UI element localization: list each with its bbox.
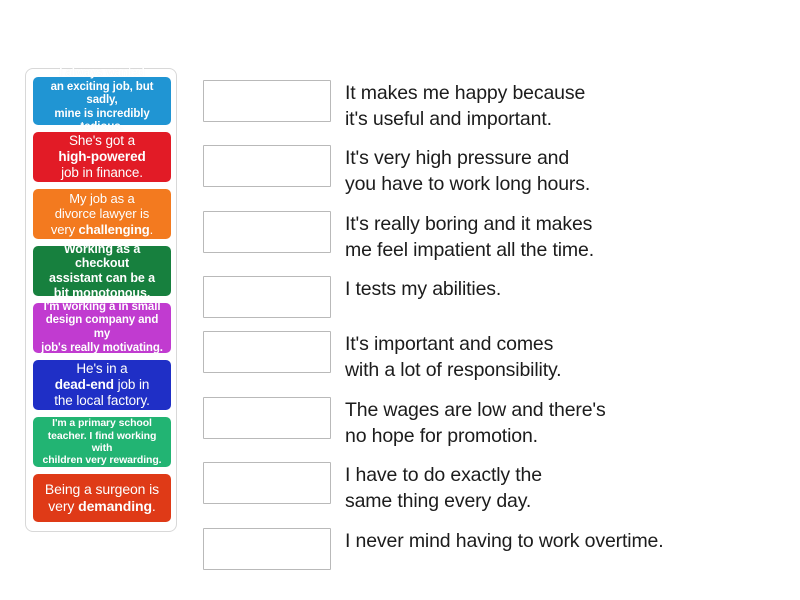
tile-challenging[interactable]: My job as adivorce lawyer isvery challen… (33, 189, 171, 239)
tile-dead-end[interactable]: He's in adead-end job inthe local factor… (33, 360, 171, 410)
match-row: It's very high pressure andyou have to w… (203, 145, 778, 197)
drop-zone[interactable] (203, 397, 331, 439)
tile-demanding[interactable]: Being a surgeon isvery demanding. (33, 474, 171, 522)
tile-high-powered[interactable]: She's got ahigh-poweredjob in finance. (33, 132, 171, 182)
drop-zone[interactable] (203, 331, 331, 373)
prompt-text: I tests my abilities. (345, 276, 501, 303)
match-rows-list: It makes me happy becauseit's useful and… (203, 80, 778, 583)
drop-zone[interactable] (203, 528, 331, 570)
tile-text: Being a surgeon isvery demanding. (45, 481, 159, 514)
tile-tedious[interactable]: I always wantedan exciting job, but sadl… (33, 77, 171, 125)
prompt-text: It's important and comeswith a lot of re… (345, 331, 561, 383)
tile-text: Working as a checkoutassistant can be ab… (38, 242, 166, 301)
tile-text: She's got ahigh-poweredjob in finance. (58, 133, 145, 181)
match-row: The wages are low and there'sno hope for… (203, 397, 778, 449)
drop-zone[interactable] (203, 276, 331, 318)
tile-text: I'm working a in smalldesign company and… (38, 301, 166, 355)
match-row: It's really boring and it makesme feel i… (203, 211, 778, 263)
prompt-text: I have to do exactly thesame thing every… (345, 462, 542, 514)
drop-zone[interactable] (203, 462, 331, 504)
prompt-text: It's really boring and it makesme feel i… (345, 211, 594, 263)
draggable-tiles-panel: I always wantedan exciting job, but sadl… (25, 68, 177, 532)
match-row: I never mind having to work overtime. (203, 528, 778, 570)
tile-motivating[interactable]: I'm working a in smalldesign company and… (33, 303, 171, 353)
prompt-text: The wages are low and there'sno hope for… (345, 397, 606, 449)
match-row: It makes me happy becauseit's useful and… (203, 80, 778, 132)
prompt-text: It's very high pressure andyou have to w… (345, 145, 590, 197)
match-row: I tests my abilities. (203, 276, 778, 318)
tile-text: He's in adead-end job inthe local factor… (54, 361, 150, 409)
prompt-text: It makes me happy becauseit's useful and… (345, 80, 585, 132)
tile-rewarding[interactable]: I'm a primary schoolteacher. I find work… (33, 417, 171, 467)
drop-zone[interactable] (203, 211, 331, 253)
tile-monotonous[interactable]: Working as a checkoutassistant can be ab… (33, 246, 171, 296)
activity-stage: I always wantedan exciting job, but sadl… (0, 0, 800, 600)
tile-text: I'm a primary schoolteacher. I find work… (38, 417, 166, 467)
tile-text: My job as adivorce lawyer isvery challen… (51, 191, 153, 237)
tile-text: I always wantedan exciting job, but sadl… (38, 67, 166, 135)
match-row: I have to do exactly thesame thing every… (203, 462, 778, 514)
drop-zone[interactable] (203, 145, 331, 187)
drop-zone[interactable] (203, 80, 331, 122)
prompt-text: I never mind having to work overtime. (345, 528, 664, 555)
match-row: It's important and comeswith a lot of re… (203, 331, 778, 383)
